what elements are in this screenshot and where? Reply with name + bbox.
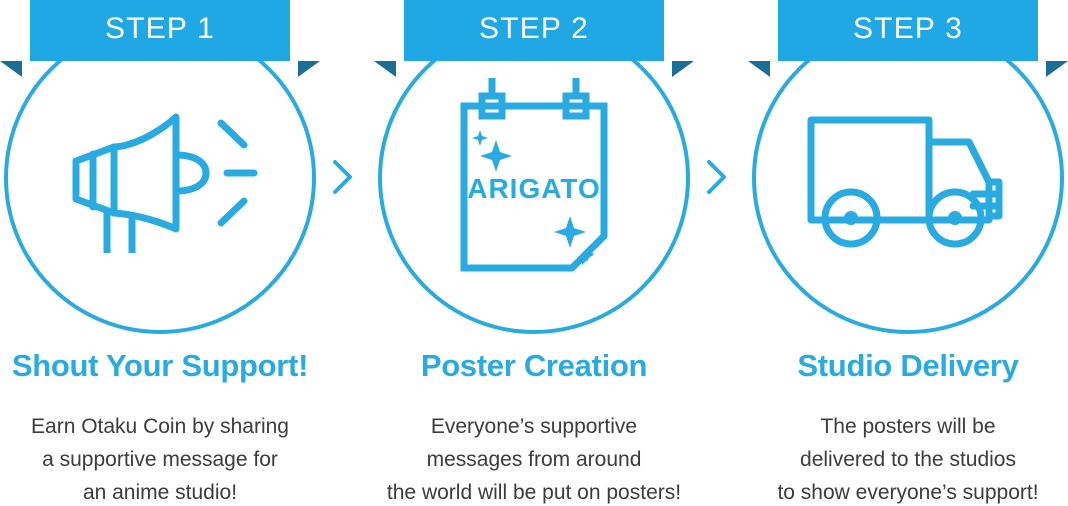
- poster-text: ARIGATO: [467, 173, 601, 204]
- step-1-circle-wrap: [0, 22, 320, 334]
- step-3-banner-label: STEP 3: [778, 0, 1038, 61]
- chevron-right-icon-1: [330, 158, 356, 196]
- step-3-circle-wrap: [748, 22, 1068, 334]
- step-3-banner: STEP 3: [778, 0, 1038, 61]
- step-3-heading: Studio Delivery: [748, 348, 1068, 384]
- step-3-desc-line-2: delivered to the studios: [738, 443, 1068, 476]
- step-2-banner: STEP 2: [404, 0, 664, 61]
- step-1-banner: STEP 1: [30, 0, 290, 61]
- step-2-description: Everyone’s supportive messages from arou…: [364, 410, 704, 506]
- step-1-banner-label: STEP 1: [30, 0, 290, 61]
- step-3-desc-line-3: to show everyone’s support!: [738, 476, 1068, 506]
- step-2-desc-line-3: the world will be put on posters!: [364, 476, 704, 506]
- poster-icon: ARIGATO: [374, 22, 694, 334]
- step-2-heading: Poster Creation: [374, 348, 694, 384]
- step-infographic: STEP 1 Shout Your Support! Earn Otaku Co…: [0, 0, 1068, 506]
- step-2-desc-line-2: messages from around: [364, 443, 704, 476]
- step-card-2: ARIGATO STEP 2 Poster Creation Everyone’…: [374, 0, 694, 506]
- step-card-3: STEP 3 Studio Delivery The posters will …: [748, 0, 1068, 506]
- step-2-banner-label: STEP 2: [404, 0, 664, 61]
- megaphone-icon: [0, 22, 320, 334]
- delivery-truck-icon: [748, 22, 1068, 334]
- step-3-description: The posters will be delivered to the stu…: [738, 410, 1068, 506]
- step-1-description: Earn Otaku Coin by sharing a supportive …: [0, 410, 330, 506]
- step-1-desc-line-1: Earn Otaku Coin by sharing: [0, 410, 330, 443]
- step-card-1: STEP 1 Shout Your Support! Earn Otaku Co…: [0, 0, 320, 506]
- step-1-desc-line-3: an anime studio!: [0, 476, 330, 506]
- chevron-right-icon-2: [704, 158, 730, 196]
- step-1-desc-line-2: a supportive message for: [0, 443, 330, 476]
- step-2-desc-line-1: Everyone’s supportive: [364, 410, 704, 443]
- step-1-heading: Shout Your Support!: [0, 348, 320, 384]
- step-2-circle-wrap: ARIGATO: [374, 22, 694, 334]
- step-3-desc-line-1: The posters will be: [738, 410, 1068, 443]
